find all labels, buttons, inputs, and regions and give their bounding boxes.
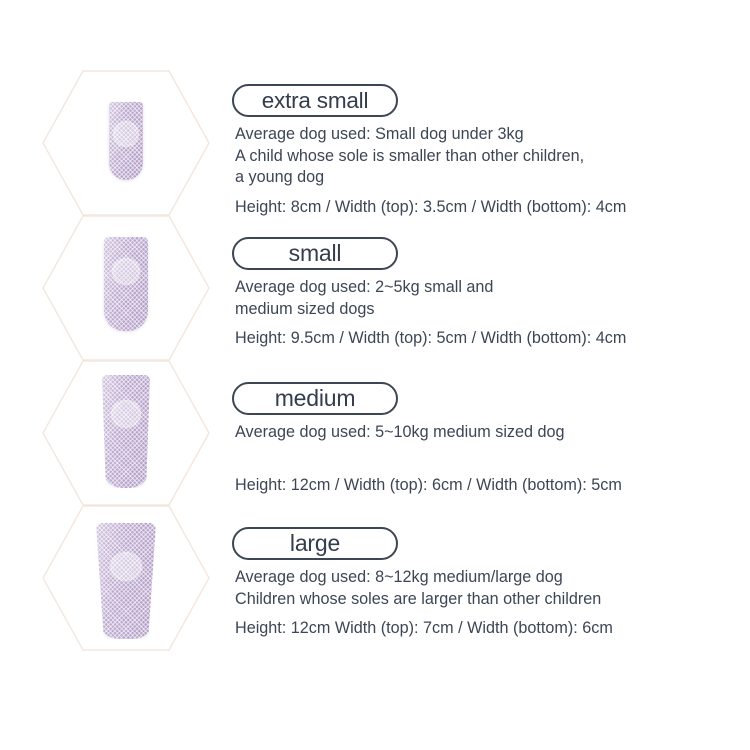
snap-button-icon (113, 121, 139, 147)
snap-button-icon (111, 400, 141, 428)
size-info-small: small Average dog used: 2~5kg small and … (228, 237, 740, 349)
hexagon-cell-small (40, 213, 212, 363)
size-guide-page: extra small Average dog used: Small dog … (0, 0, 750, 750)
hexagon-cell-extra-small (40, 68, 212, 218)
size-dimensions: Height: 8cm / Width (top): 3.5cm / Width… (235, 197, 740, 218)
size-info-column: extra small Average dog used: Small dog … (228, 0, 750, 750)
snap-button-icon (110, 552, 142, 581)
size-description: Average dog used: 5~10kg medium sized do… (235, 422, 740, 444)
product-swatch-column (0, 0, 228, 750)
size-info-large: large Average dog used: 8~12kg medium/la… (228, 527, 740, 639)
size-dimensions: Height: 9.5cm / Width (top): 5cm / Width… (235, 328, 740, 349)
size-badge-small: small (232, 237, 398, 270)
size-description: Average dog used: Small dog under 3kg A … (235, 124, 740, 189)
size-badge-label: extra small (262, 89, 369, 112)
size-badge-label: medium (275, 387, 356, 410)
size-badge-extra-small: extra small (232, 84, 398, 117)
paw-pad-swatch-medium (102, 375, 150, 488)
size-badge-label: large (290, 532, 340, 555)
size-info-extra-small: extra small Average dog used: Small dog … (228, 84, 740, 218)
paw-pad-swatch-extra-small (109, 102, 143, 180)
hexagon-cell-medium (40, 358, 212, 508)
size-description: Average dog used: 2~5kg small and medium… (235, 277, 740, 320)
size-badge-label: small (289, 242, 342, 265)
size-description: Average dog used: 8~12kg medium/large do… (235, 567, 740, 610)
snap-button-icon (112, 258, 140, 285)
size-badge-large: large (232, 527, 398, 560)
size-info-medium: medium Average dog used: 5~10kg medium s… (228, 382, 740, 496)
size-dimensions: Height: 12cm Width (top): 7cm / Width (b… (235, 618, 740, 639)
hexagon-cell-large (40, 503, 212, 653)
size-badge-medium: medium (232, 382, 398, 415)
paw-pad-swatch-small (104, 237, 148, 331)
size-dimensions: Height: 12cm / Width (top): 6cm / Width … (235, 475, 740, 496)
paw-pad-swatch-large (96, 523, 156, 639)
